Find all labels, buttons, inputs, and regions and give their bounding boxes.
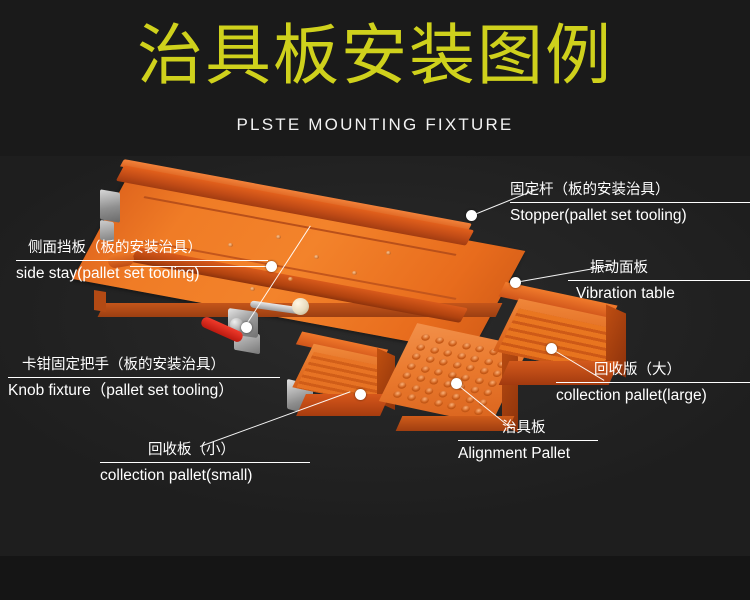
- screw-head: [386, 251, 391, 255]
- alignment-pallet-dimple: [465, 364, 476, 372]
- alignment-pallet-dimple: [419, 365, 430, 373]
- leader-dot-alignment-pallet: [451, 378, 462, 389]
- callout-vibration-table-cn: 振动面板: [568, 258, 750, 278]
- callout-alignment-pallet: 治具板 Alignment Pallet: [458, 418, 638, 464]
- alignment-pallet-dimple: [406, 362, 417, 370]
- alignment-pallet-dimple: [442, 349, 453, 357]
- callout-collection-pallet-small-en: collection pallet(small): [100, 465, 310, 486]
- alignment-pallet-dimple: [415, 374, 426, 382]
- alignment-pallet-dimple: [411, 352, 422, 360]
- leader-dot-knob-fixture: [241, 322, 252, 333]
- table-left-edge: [94, 290, 106, 312]
- diagram-page: 治具板安装图例 PLSTE MOUNTING FIXTURE: [0, 0, 750, 600]
- callout-knob-fixture: 卡钳固定把手（板的安装治具） Knob fixture（pallet set t…: [8, 355, 280, 401]
- leader-dot-collection-pallet-small: [355, 389, 366, 400]
- leader-dot-vibration-table: [510, 277, 521, 288]
- alignment-pallet-dimple: [483, 357, 494, 365]
- header-banner: 治具板安装图例 PLSTE MOUNTING FIXTURE: [0, 0, 750, 156]
- alignment-pallet-dimple: [433, 368, 444, 376]
- callout-knob-fixture-en: Knob fixture（pallet set tooling）: [8, 380, 280, 401]
- screw-head: [276, 235, 281, 239]
- screw-head: [288, 277, 293, 281]
- alignment-pallet-dimple: [460, 373, 471, 381]
- page-title: 治具板安装图例: [0, 18, 750, 94]
- callout-knob-fixture-rule: [8, 377, 280, 378]
- screw-head: [352, 271, 357, 275]
- alignment-pallet-dimple: [419, 396, 430, 404]
- alignment-pallet-dimple: [482, 389, 493, 397]
- callout-vibration-table-en: Vibration table: [568, 283, 750, 304]
- alignment-pallet-dimple: [405, 393, 416, 401]
- callout-side-stay-rule: [16, 260, 268, 261]
- stopper-block-right: [100, 189, 120, 223]
- alignment-pallet-dimple: [474, 345, 485, 353]
- callout-collection-pallet-small-rule: [100, 462, 310, 463]
- page-subtitle: PLSTE MOUNTING FIXTURE: [0, 115, 750, 135]
- alignment-pallet-dimple: [459, 405, 470, 413]
- alignment-pallet-dimple: [410, 384, 421, 392]
- alignment-pallet-dimple: [424, 387, 435, 395]
- alignment-pallet-dimple: [447, 339, 458, 347]
- alignment-pallet-dimple: [469, 354, 480, 362]
- alignment-pallet-dimple: [456, 352, 467, 360]
- callout-collection-pallet-large-en: collection pallet(large): [556, 385, 750, 406]
- alignment-pallet-dimple: [434, 336, 445, 344]
- callout-collection-pallet-small: 回收板（小） collection pallet(small): [100, 440, 310, 486]
- callout-stopper-rule: [510, 202, 750, 203]
- alignment-pallet-dimple: [451, 392, 462, 400]
- alignment-pallet-dimple: [437, 390, 448, 398]
- alignment-pallet-dimple: [428, 377, 439, 385]
- callout-side-stay-en: side stay(pallet set tooling): [16, 263, 268, 284]
- alignment-pallet-dimple: [429, 346, 440, 354]
- alignment-pallet-dimple: [415, 343, 426, 351]
- alignment-pallet-dimple: [451, 361, 462, 369]
- alignment-pallet-dimple: [397, 381, 408, 389]
- screw-head: [314, 255, 319, 259]
- callout-collection-pallet-small-cn: 回收板（小）: [100, 440, 310, 460]
- alignment-pallet-dimple: [469, 386, 480, 394]
- leader-dot-stopper: [466, 210, 477, 221]
- callout-side-stay: 侧面挡板（板的安装治具） side stay(pallet set toolin…: [16, 238, 268, 284]
- callout-collection-pallet-large: 回收版（大） collection pallet(large): [556, 360, 750, 406]
- callout-stopper-cn: 固定杆（板的安装治具）: [510, 180, 750, 200]
- leader-dot-collection-pallet-large: [546, 343, 557, 354]
- alignment-pallet-dimple: [461, 342, 472, 350]
- callout-side-stay-cn: 侧面挡板（板的安装治具）: [16, 238, 268, 258]
- callout-collection-pallet-large-cn: 回收版（大）: [556, 360, 750, 380]
- alignment-pallet-dimple: [473, 376, 484, 384]
- footer-band: [0, 556, 750, 600]
- callout-stopper: 固定杆（板的安装治具） Stopper(pallet set tooling): [510, 180, 750, 226]
- callout-vibration-table-rule: [568, 280, 750, 281]
- alignment-pallet-dimple: [392, 390, 403, 398]
- screw-head: [250, 287, 255, 291]
- alignment-pallet-dimple: [420, 333, 431, 341]
- alignment-pallet-dimple: [473, 408, 484, 416]
- callout-alignment-pallet-en: Alignment Pallet: [458, 443, 638, 464]
- callout-vibration-table: 振动面板 Vibration table: [568, 258, 750, 304]
- alignment-pallet-dimple: [424, 355, 435, 363]
- callout-alignment-pallet-cn: 治具板: [458, 418, 638, 438]
- alignment-pallet-dimple: [401, 371, 412, 379]
- alignment-pallet-dimple: [478, 367, 489, 375]
- callout-knob-fixture-cn: 卡钳固定把手（板的安装治具）: [8, 355, 280, 375]
- callout-stopper-en: Stopper(pallet set tooling): [510, 205, 750, 226]
- callout-collection-pallet-large-rule: [556, 382, 750, 383]
- alignment-pallet-dimple: [487, 379, 498, 387]
- clamp-knob: [292, 298, 309, 315]
- alignment-pallet-dimple: [432, 399, 443, 407]
- callout-alignment-pallet-rule: [458, 440, 598, 441]
- alignment-pallet-dimple: [446, 402, 457, 410]
- alignment-pallet-dimple: [438, 358, 449, 366]
